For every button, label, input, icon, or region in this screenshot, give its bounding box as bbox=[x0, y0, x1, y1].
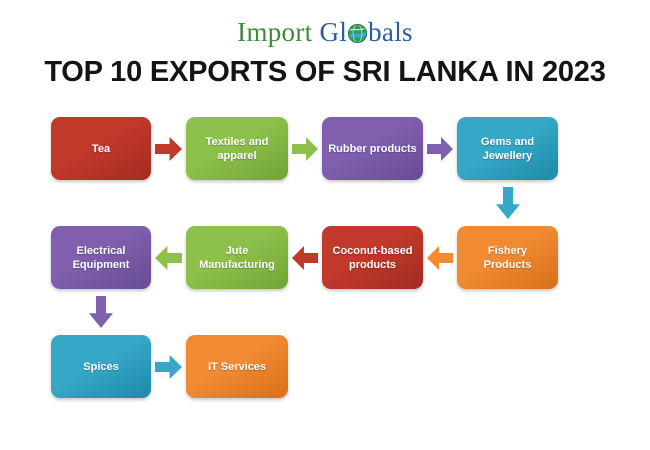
flow-node-label: IT Services bbox=[208, 360, 266, 374]
flow-node-label: Tea bbox=[92, 142, 110, 156]
flow-node-spices: Spices bbox=[51, 335, 151, 398]
flow-arrow-electrical-equipment-to-spices bbox=[89, 296, 113, 328]
flow-node-coconut-based-products: Coconut-based products bbox=[322, 226, 423, 289]
flow-arrow-coconut-based-products-to-jute-manufacturing bbox=[292, 246, 318, 270]
flow-node-gems-and-jewellery: Gems and Jewellery bbox=[457, 117, 558, 180]
flow-node-electrical-equipment: Electrical Equipment bbox=[51, 226, 151, 289]
flow-arrow-textiles-and-apparel-to-rubber-products bbox=[292, 137, 318, 161]
flow-node-label: Electrical Equipment bbox=[57, 244, 145, 272]
flow-node-textiles-and-apparel: Textiles and apparel bbox=[186, 117, 288, 180]
flow-node-label: Coconut-based products bbox=[328, 244, 417, 272]
flow-node-it-services: IT Services bbox=[186, 335, 288, 398]
flow-node-label: Spices bbox=[83, 360, 118, 374]
flow-arrow-rubber-products-to-gems-and-jewellery bbox=[427, 137, 453, 161]
flow-node-fishery-products: Fishery Products bbox=[457, 226, 558, 289]
flow-arrow-gems-and-jewellery-to-fishery-products bbox=[496, 187, 520, 219]
flow-node-label: Fishery Products bbox=[463, 244, 552, 272]
flow-arrow-jute-manufacturing-to-electrical-equipment bbox=[155, 246, 182, 270]
flow-node-label: Jute Manufacturing bbox=[192, 244, 282, 272]
flow-node-tea: Tea bbox=[51, 117, 151, 180]
flow-node-label: Rubber products bbox=[328, 142, 417, 156]
flow-node-label: Textiles and apparel bbox=[192, 135, 282, 163]
flow-arrow-spices-to-it-services bbox=[155, 355, 182, 379]
flow-arrow-fishery-products-to-coconut-based-products bbox=[427, 246, 453, 270]
flow-node-jute-manufacturing: Jute Manufacturing bbox=[186, 226, 288, 289]
flow-node-label: Gems and Jewellery bbox=[463, 135, 552, 163]
flow-node-rubber-products: Rubber products bbox=[322, 117, 423, 180]
flow-arrow-tea-to-textiles-and-apparel bbox=[155, 137, 182, 161]
export-flow-diagram: TeaTextiles and apparelRubber productsGe… bbox=[0, 0, 650, 450]
